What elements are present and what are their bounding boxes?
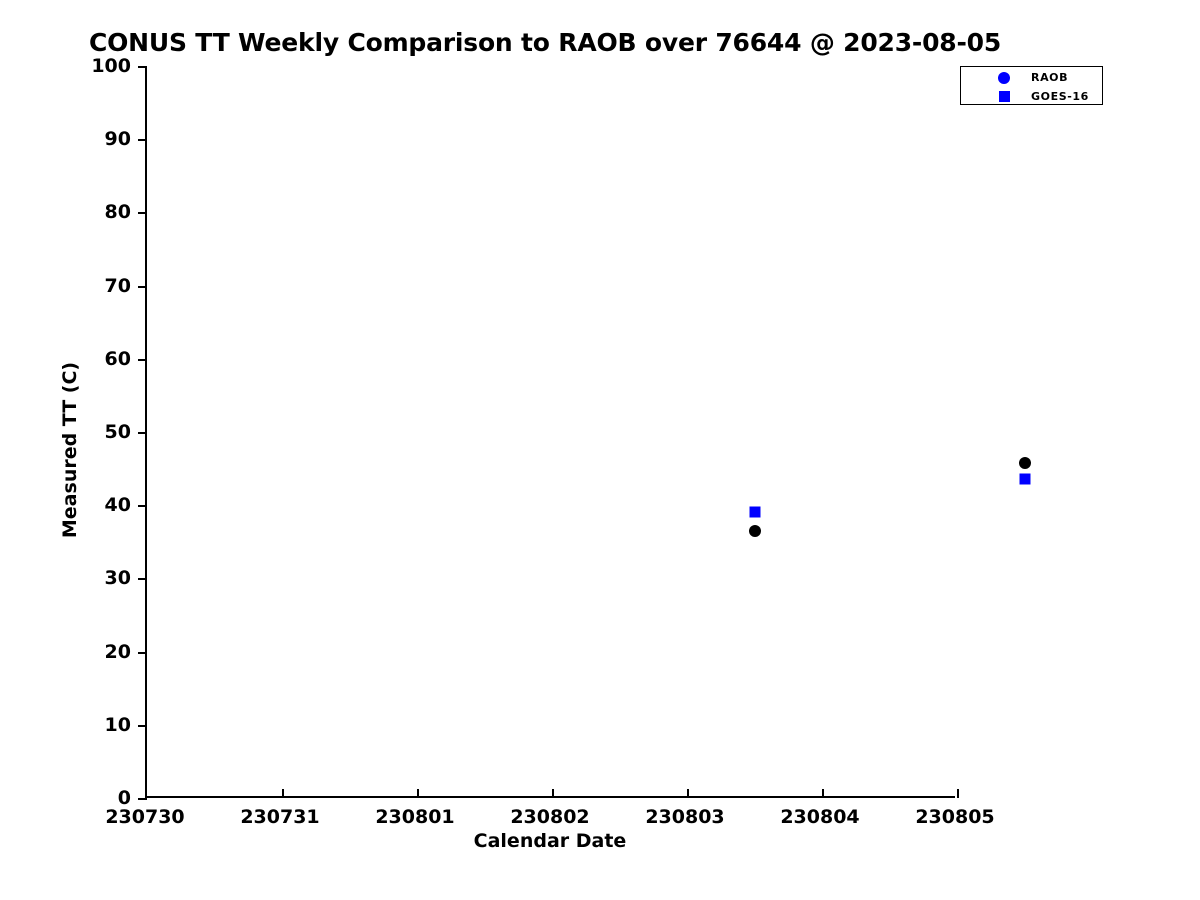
y-tick-mark [138,359,147,361]
page-title: CONUS TT Weekly Comparison to RAOB over … [0,28,1090,57]
x-axis-label: Calendar Date [145,830,955,852]
x-tick-mark [282,789,284,798]
y-tick-label: 80 [11,201,131,223]
y-tick-label: 70 [11,275,131,297]
y-tick-label: 30 [11,567,131,589]
legend-marker-square-icon [995,87,1013,106]
legend-marker-circle-icon [995,68,1013,87]
y-tick-label: 60 [11,348,131,370]
data-point-goes-16 [749,506,760,517]
y-tick-mark [138,139,147,141]
plot-area [145,66,955,798]
legend-item-goes-16[interactable]: GOES-16 [961,87,1104,106]
legend-label: GOES-16 [1031,90,1089,103]
y-tick-mark [138,432,147,434]
x-tick-mark [822,789,824,798]
y-tick-label: 40 [11,494,131,516]
y-tick-mark [138,798,147,800]
y-tick-label: 20 [11,641,131,663]
x-tick-mark [957,789,959,798]
y-tick-mark [138,652,147,654]
legend-label: RAOB [1031,71,1068,84]
legend-swatch [999,91,1010,102]
y-tick-mark [138,578,147,580]
y-tick-mark [138,66,147,68]
data-point-raob [749,525,761,537]
x-tick-mark [687,789,689,798]
chart-legend: RAOBGOES-16 [960,66,1103,105]
y-tick-mark [138,212,147,214]
legend-swatch [998,72,1010,84]
y-tick-label: 90 [11,128,131,150]
x-tick-mark [417,789,419,798]
x-tick-label: 230805 [875,806,1035,828]
data-point-goes-16 [1019,473,1030,484]
y-tick-mark [138,505,147,507]
y-tick-mark [138,725,147,727]
legend-item-raob[interactable]: RAOB [961,68,1104,87]
y-tick-label: 100 [11,55,131,77]
y-tick-mark [138,286,147,288]
data-point-raob [1019,457,1031,469]
y-tick-label: 50 [11,421,131,443]
x-tick-mark [552,789,554,798]
y-tick-label: 10 [11,714,131,736]
chart-figure: CONUS TT Weekly Comparison to RAOB over … [0,0,1200,900]
